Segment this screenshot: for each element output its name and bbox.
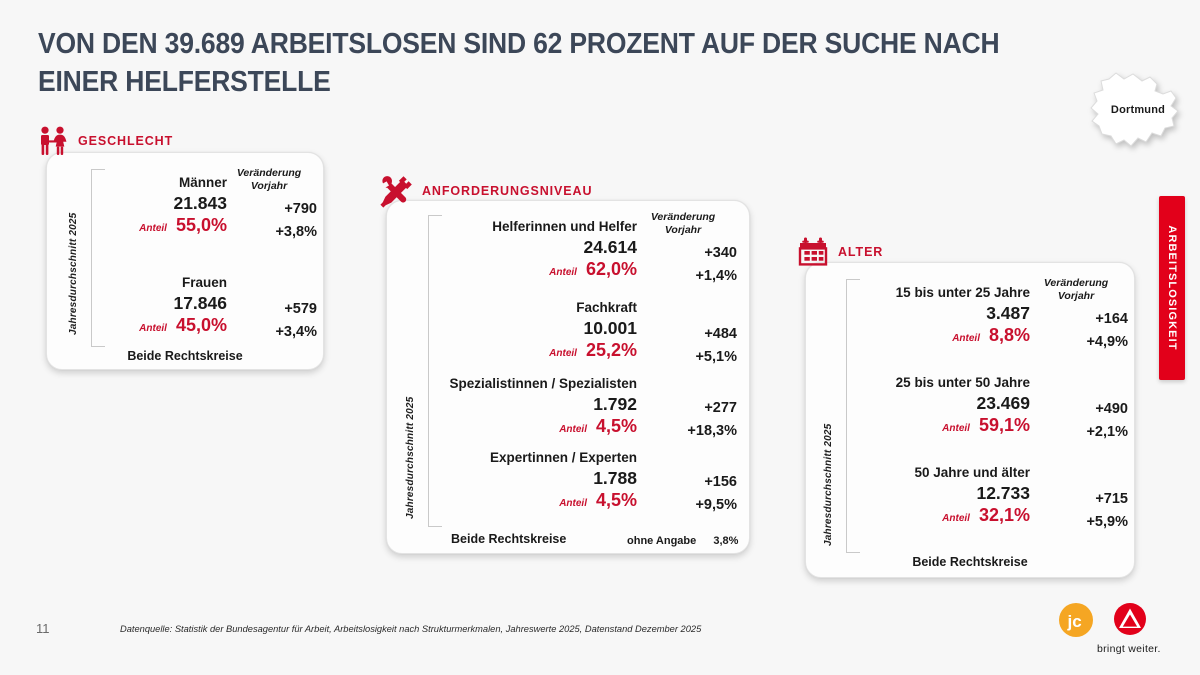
- share-label: Anteil: [549, 348, 577, 359]
- change-header-gender: Veränderung Vorjahr: [221, 167, 317, 194]
- share-label: Anteil: [942, 423, 970, 434]
- group-value: 3.487: [858, 303, 1030, 324]
- change-absolute: +715: [1036, 491, 1128, 507]
- group-label: Frauen: [107, 275, 227, 290]
- share-label: Anteil: [942, 513, 970, 524]
- wrench-screwdriver-icon: [378, 174, 414, 208]
- change-header-line2: Vorjahr: [1024, 290, 1128, 303]
- change-header-line1: Veränderung: [629, 211, 737, 224]
- share-label: Anteil: [559, 498, 587, 509]
- change-values-age-15-25: +164 +4,9%: [1036, 311, 1128, 350]
- section-header-age: ALTER: [798, 236, 883, 268]
- change-values-maenner: +790 +3,8%: [233, 201, 317, 240]
- change-percent: +1,4%: [643, 268, 737, 284]
- share-label: Anteil: [559, 424, 587, 435]
- page-title: VON DEN 39.689 ARBEITSLOSEN SIND 62 PROZ…: [38, 26, 1024, 101]
- section-caption-requirement: ANFORDERUNGSNIVEAU: [422, 184, 592, 198]
- section-tab-arbeitslosigkeit[interactable]: ARBEITSLOSIGKEIT: [1159, 196, 1185, 380]
- change-absolute: +490: [1036, 401, 1128, 417]
- page-number: 11: [36, 621, 50, 636]
- section-caption-age: ALTER: [838, 245, 883, 259]
- change-percent: +3,8%: [233, 224, 317, 240]
- card-footnote-age: Beide Rechtskreise: [806, 555, 1134, 569]
- group-value: 12.733: [858, 483, 1030, 504]
- group-value: 24.614: [443, 237, 637, 258]
- change-header-line1: Veränderung: [221, 167, 317, 180]
- group-share: 32,1%: [979, 505, 1030, 526]
- group-value: 10.001: [443, 318, 637, 339]
- change-absolute: +340: [643, 245, 737, 261]
- map-label: Dortmund: [1086, 104, 1190, 116]
- change-header-requirement: Veränderung Vorjahr: [629, 211, 737, 238]
- card-footnote-gender: Beide Rechtskreise: [47, 349, 323, 363]
- no-info-value: 3,8%: [713, 535, 738, 547]
- change-header-line2: Vorjahr: [221, 180, 317, 193]
- card-requirement: Jahresdurchschnitt 2025 Veränderung Vorj…: [386, 200, 750, 554]
- change-percent: +5,1%: [643, 349, 737, 365]
- data-group-fachkraft: Fachkraft 10.001 Anteil 25,2%: [443, 300, 637, 361]
- axis-label-gender: Jahresdurchschnitt 2025: [68, 213, 79, 335]
- change-values-experten: +156 +9,5%: [643, 474, 737, 513]
- group-label: Helferinnen und Helfer: [443, 219, 637, 234]
- data-group-spezialisten: Spezialistinnen / Spezialisten 1.792 Ant…: [429, 376, 637, 437]
- data-group-helfer: Helferinnen und Helfer 24.614 Anteil 62,…: [443, 219, 637, 280]
- data-group-maenner: Männer 21.843 Anteil 55,0%: [107, 175, 227, 236]
- group-label: Männer: [107, 175, 227, 190]
- group-label: 50 Jahre und älter: [858, 465, 1030, 480]
- change-absolute: +790: [233, 201, 317, 217]
- change-absolute: +484: [643, 326, 737, 342]
- section-header-gender: GESCHLECHT: [36, 126, 173, 156]
- group-value: 1.788: [429, 468, 637, 489]
- change-header-age: Veränderung Vorjahr: [1024, 277, 1128, 304]
- section-caption-gender: GESCHLECHT: [78, 134, 173, 148]
- no-info-label: ohne Angabe: [627, 535, 696, 547]
- change-percent: +3,4%: [233, 324, 317, 340]
- group-value: 21.843: [107, 193, 227, 214]
- change-absolute: +579: [233, 301, 317, 317]
- axis-label-age: Jahresdurchschnitt 2025: [823, 424, 834, 546]
- data-group-frauen: Frauen 17.846 Anteil 45,0%: [107, 275, 227, 336]
- change-absolute: +277: [643, 400, 737, 416]
- change-values-age-25-50: +490 +2,1%: [1036, 401, 1128, 440]
- change-absolute: +156: [643, 474, 737, 490]
- change-values-fachkraft: +484 +5,1%: [643, 326, 737, 365]
- group-label: Expertinnen / Experten: [429, 450, 637, 465]
- card-gender: Jahresdurchschnitt 2025 Veränderung Vorj…: [46, 152, 324, 370]
- share-label: Anteil: [139, 223, 167, 234]
- group-label: Spezialistinnen / Spezialisten: [429, 376, 637, 391]
- change-header-line1: Veränderung: [1024, 277, 1128, 290]
- logo-claim: bringt weiter.: [1097, 643, 1161, 655]
- share-label: Anteil: [139, 323, 167, 334]
- group-label: 15 bis unter 25 Jahre: [858, 285, 1030, 300]
- group-label: Fachkraft: [443, 300, 637, 315]
- group-share: 55,0%: [176, 215, 227, 236]
- range-bracket-age: [846, 279, 847, 553]
- couple-icon: [36, 126, 70, 156]
- group-share: 4,5%: [596, 490, 637, 511]
- card-age: Jahresdurchschnitt 2025 Veränderung Vorj…: [805, 262, 1135, 578]
- axis-label-requirement: Jahresdurchschnitt 2025: [405, 397, 416, 519]
- group-value: 17.846: [107, 293, 227, 314]
- card-footnote-requirement: Beide Rechtskreise: [451, 532, 566, 546]
- group-share: 25,2%: [586, 340, 637, 361]
- change-percent: +2,1%: [1036, 424, 1128, 440]
- no-info-row: ohne Angabe 3,8%: [627, 535, 738, 547]
- change-percent: +5,9%: [1036, 514, 1128, 530]
- change-percent: +9,5%: [643, 497, 737, 513]
- group-share: 62,0%: [586, 259, 637, 280]
- group-share: 8,8%: [989, 325, 1030, 346]
- change-absolute: +164: [1036, 311, 1128, 327]
- bundesagentur-fuer-arbeit-logo: [1111, 602, 1149, 638]
- data-group-age-15-25: 15 bis unter 25 Jahre 3.487 Anteil 8,8%: [858, 285, 1030, 346]
- region-map: Dortmund: [1086, 64, 1190, 156]
- data-group-age-50-plus: 50 Jahre und älter 12.733 Anteil 32,1%: [858, 465, 1030, 526]
- share-label: Anteil: [549, 267, 577, 278]
- section-tab-label: ARBEITSLOSIGKEIT: [1166, 225, 1178, 350]
- source-note: Datenquelle: Statistik der Bundesagentur…: [120, 624, 701, 635]
- slide-canvas: VON DEN 39.689 ARBEITSLOSEN SIND 62 PROZ…: [0, 0, 1200, 675]
- data-group-age-25-50: 25 bis unter 50 Jahre 23.469 Anteil 59,1…: [858, 375, 1030, 436]
- section-header-requirement: ANFORDERUNGSNIVEAU: [378, 174, 592, 208]
- group-value: 1.792: [429, 394, 637, 415]
- change-percent: +4,9%: [1036, 334, 1128, 350]
- share-label: Anteil: [952, 333, 980, 344]
- group-share: 4,5%: [596, 416, 637, 437]
- change-values-age-50-plus: +715 +5,9%: [1036, 491, 1128, 530]
- change-values-frauen: +579 +3,4%: [233, 301, 317, 340]
- change-header-line2: Vorjahr: [629, 224, 737, 237]
- change-values-spezialisten: +277 +18,3%: [643, 400, 737, 439]
- range-bracket-gender: [91, 169, 92, 347]
- svg-text:jc: jc: [1067, 612, 1082, 631]
- calendar-icon: [798, 236, 830, 268]
- group-share: 45,0%: [176, 315, 227, 336]
- group-label: 25 bis unter 50 Jahre: [858, 375, 1030, 390]
- change-percent: +18,3%: [643, 423, 737, 439]
- change-values-helfer: +340 +1,4%: [643, 245, 737, 284]
- data-group-experten: Expertinnen / Experten 1.788 Anteil 4,5%: [429, 450, 637, 511]
- group-value: 23.469: [858, 393, 1030, 414]
- jobcenter-logo: jc: [1058, 602, 1094, 638]
- group-share: 59,1%: [979, 415, 1030, 436]
